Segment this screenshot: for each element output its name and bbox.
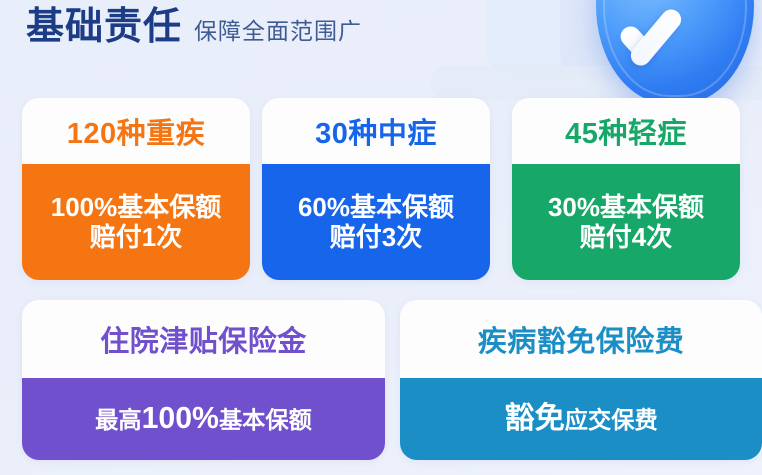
benefit-card-heading: 住院津贴保险金 (22, 300, 385, 378)
benefit-card-heading: 30种中症 (262, 98, 490, 164)
benefit-claims-line: 赔付4次 (580, 222, 672, 252)
benefit-card-hospital-allowance[interactable]: 住院津贴保险金 最高100%基本保额 (22, 300, 385, 460)
checkmark-icon (624, 8, 712, 64)
benefit-claims-line: 赔付3次 (330, 222, 422, 252)
benefit-amount: 100% (142, 402, 219, 435)
benefit-claims-line: 赔付1次 (90, 222, 182, 252)
benefit-prefix: 最高 (95, 407, 141, 433)
benefit-card-body: 60%基本保额 赔付3次 (262, 164, 490, 280)
benefit-amount-line: 豁免应交保费 (504, 401, 657, 436)
benefit-card-heading: 疾病豁免保险费 (400, 300, 762, 378)
benefit-suffix: 基本保额 (219, 407, 312, 433)
benefit-amount-line: 30%基本保额 (548, 192, 704, 222)
benefit-suffix: 应交保费 (565, 407, 658, 433)
benefit-card-heading: 45种轻症 (512, 98, 740, 164)
insurance-benefits-poster: 基础责任 保障全面范围广 120种重疾 100%基本保额 赔付1次 30种中症 … (0, 0, 762, 475)
benefit-card-body: 豁免应交保费 (400, 378, 762, 460)
benefit-card-heading: 120种重疾 (22, 98, 250, 164)
benefit-prefix: 豁免 (504, 402, 564, 435)
benefit-card-critical-illness[interactable]: 120种重疾 100%基本保额 赔付1次 (22, 98, 250, 280)
benefit-card-body: 100%基本保额 赔付1次 (22, 164, 250, 280)
benefit-amount-line: 100%基本保额 (51, 192, 222, 222)
benefit-card-mild-illness[interactable]: 45种轻症 30%基本保额 赔付4次 (512, 98, 740, 280)
benefit-card-body: 30%基本保额 赔付4次 (512, 164, 740, 280)
benefit-amount-line: 最高100%基本保额 (95, 401, 312, 436)
benefit-card-body: 最高100%基本保额 (22, 378, 385, 460)
page-header: 基础责任 保障全面范围广 (26, 8, 362, 46)
benefit-card-moderate-illness[interactable]: 30种中症 60%基本保额 赔付3次 (262, 98, 490, 280)
page-subtitle: 保障全面范围广 (194, 20, 362, 43)
benefit-amount-line: 60%基本保额 (298, 192, 454, 222)
benefit-card-premium-waiver[interactable]: 疾病豁免保险费 豁免应交保费 (400, 300, 762, 460)
page-title: 基础责任 (26, 8, 182, 46)
